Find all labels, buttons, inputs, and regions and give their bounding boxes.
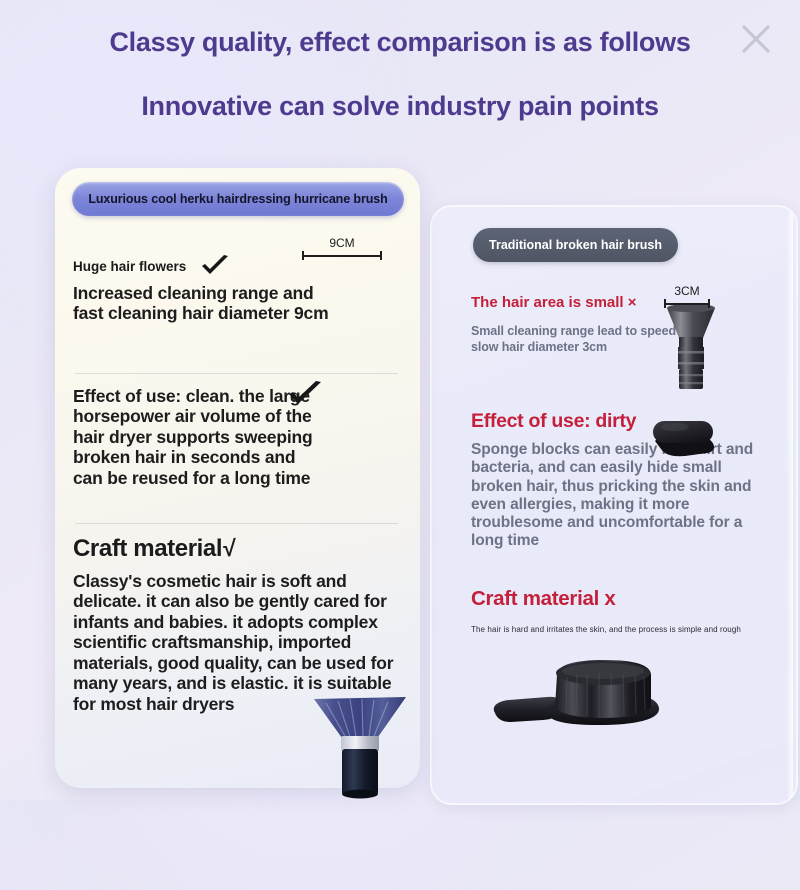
check-mark-glyph: √ bbox=[223, 535, 235, 562]
right-body-sponge-blocks: Sponge blocks can easily hide dirt and b… bbox=[471, 441, 773, 551]
dimension-9cm-label: 9CM bbox=[298, 236, 386, 250]
headline-primary: Classy quality, effect comparison is as … bbox=[0, 28, 800, 58]
dimension-3cm-label: 3CM bbox=[660, 284, 714, 298]
left-body-cleaning-range: Increased cleaning range and fast cleani… bbox=[73, 283, 333, 324]
classy-brush-badge-label: Luxurious cool herku hairdressing hurric… bbox=[88, 192, 387, 206]
right-heading-hair-area: The hair area is small × bbox=[471, 294, 637, 311]
check-icon bbox=[200, 254, 230, 278]
left-heading-craft-material: Craft material √ bbox=[73, 535, 406, 563]
right-body-cleaning-range: Small cleaning range lead to speed slow … bbox=[471, 324, 686, 356]
headline-secondary: Innovative can solve industry pain point… bbox=[0, 92, 800, 122]
dimension-3cm-line bbox=[660, 299, 714, 308]
dimension-9cm: 9CM bbox=[298, 236, 386, 260]
dimension-9cm-line bbox=[298, 251, 386, 260]
dimension-3cm: 3CM bbox=[660, 284, 714, 308]
black-sponge-block-image bbox=[647, 415, 719, 466]
left-body-effect-of-use: Effect of use: clean. the large horsepow… bbox=[73, 386, 321, 488]
classy-brush-card: Luxurious cool herku hairdressing hurric… bbox=[55, 168, 420, 788]
right-heading-effect-dirty: Effect of use: dirty bbox=[471, 410, 636, 433]
black-small-brush-image bbox=[663, 302, 719, 399]
right-heading-craft-material: Craft material x bbox=[471, 587, 615, 611]
headline-group: Classy quality, effect comparison is as … bbox=[0, 28, 800, 121]
close-icon[interactable] bbox=[739, 22, 773, 56]
divider-1 bbox=[75, 373, 398, 374]
feature-label: Huge hair flowers bbox=[73, 259, 186, 274]
black-handle-brush-image bbox=[487, 655, 692, 760]
purple-brush-image-bottom bbox=[310, 697, 410, 807]
left-craft-heading-text: Craft material bbox=[73, 535, 222, 563]
right-body-craft-caption: The hair is hard and irritates the skin,… bbox=[471, 625, 781, 634]
check-icon-secondary bbox=[287, 380, 323, 408]
traditional-brush-badge: Traditional broken hair brush bbox=[473, 228, 678, 262]
classy-brush-badge: Luxurious cool herku hairdressing hurric… bbox=[72, 182, 404, 216]
left-body-craft-material: Classy's cosmetic hair is soft and delic… bbox=[73, 571, 411, 714]
divider-2 bbox=[75, 523, 398, 524]
traditional-brush-badge-label: Traditional broken hair brush bbox=[489, 238, 662, 252]
